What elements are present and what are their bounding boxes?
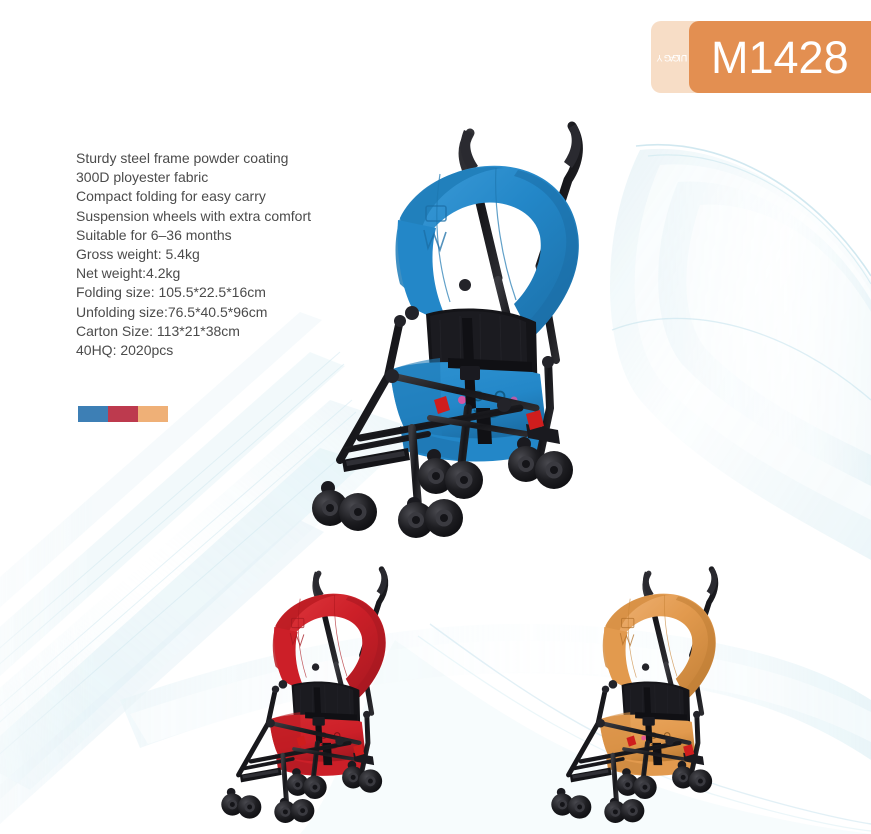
color-swatch-orange[interactable]: [138, 406, 168, 422]
wheel-front-right: [274, 798, 314, 823]
product-image-blue-stroller: [300, 108, 620, 538]
color-swatch-blue[interactable]: [78, 406, 108, 422]
orange-stroller-group: [551, 568, 717, 823]
product-image-red-stroller: [205, 558, 420, 823]
badge-front-panel: M1428: [689, 21, 871, 93]
handle-grips: [461, 124, 581, 172]
wheel-front-left: [551, 788, 591, 819]
wheel-front-right: [398, 497, 463, 538]
red-stroller-group: [221, 568, 387, 823]
model-code-text: M1428: [689, 21, 871, 93]
wheel-front-left: [312, 481, 377, 531]
product-sheet: UMBRELLA BUGGY M1428 Sturdy steel frame …: [0, 0, 871, 834]
handle-grips: [313, 568, 387, 598]
handle-grips: [643, 568, 717, 598]
model-badge: UMBRELLA BUGGY M1428: [651, 21, 871, 93]
blue-stroller-group: [312, 124, 581, 538]
wheel-front-left: [221, 788, 261, 819]
product-image-orange-stroller: [535, 558, 750, 823]
color-swatch-red[interactable]: [108, 406, 138, 422]
wheel-front-right: [604, 798, 644, 823]
color-swatch-group: [78, 406, 168, 422]
